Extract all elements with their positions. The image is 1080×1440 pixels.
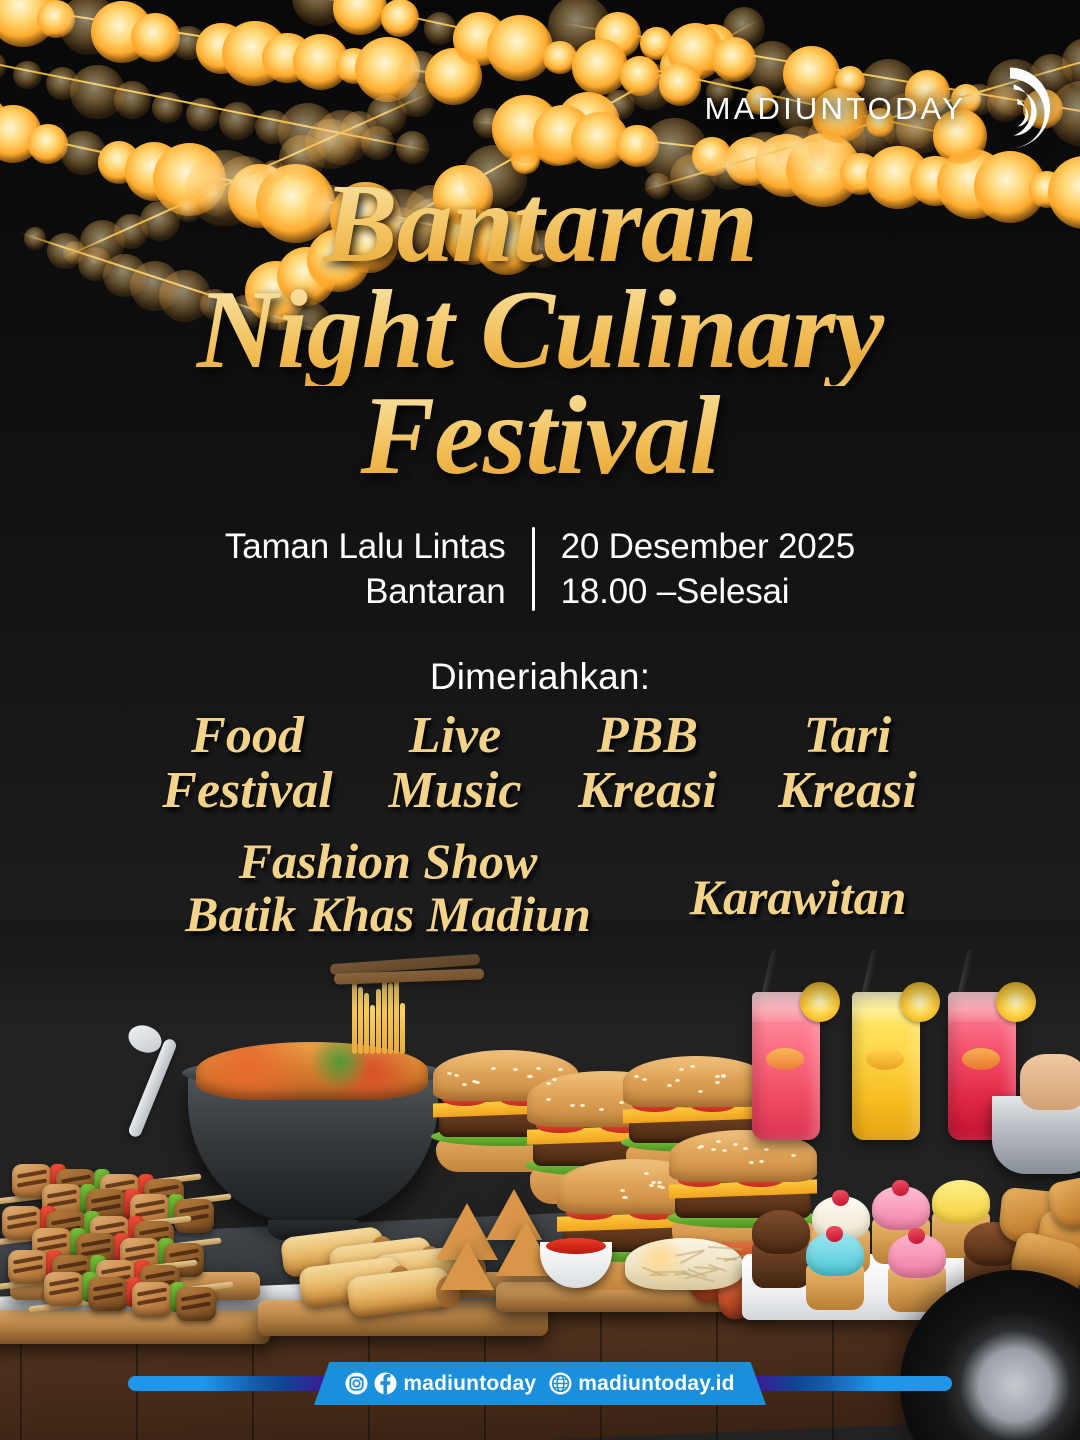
light-bulb (487, 15, 553, 81)
light-bulb (0, 52, 6, 80)
noodle-strand (394, 979, 399, 1054)
sesame-seed (651, 1181, 656, 1184)
sesame-seed (536, 1067, 541, 1070)
drink-straw (856, 948, 879, 1020)
sesame-seed (649, 1184, 654, 1187)
fruit-slice-in-glass (766, 1048, 804, 1070)
light-bulb (13, 61, 41, 89)
social-handle-group[interactable]: madiuntoday (345, 1372, 536, 1395)
sesame-seed (491, 1067, 496, 1070)
fashion-line-2: Batik Khas Madiun (158, 888, 618, 941)
sesame-seed (475, 1081, 480, 1084)
berry-garnish (892, 1180, 909, 1196)
event-time: 18.00 –Selesai (561, 570, 856, 615)
sesame-seed (749, 1161, 754, 1164)
light-bulb (381, 0, 419, 37)
lineup-item-food-festival: Food Festival (133, 708, 363, 818)
lineup-row-primary: Food Festival Live Music PBB Kreasi Tari… (0, 708, 1080, 818)
hand-reaching (1020, 1054, 1080, 1110)
serving-spoon (127, 1037, 178, 1138)
light-bulb (219, 102, 257, 140)
lineup-heading: Dimeriahkan: (0, 656, 1080, 698)
title-line-2: Night Culinary (0, 274, 1080, 386)
lineup-item-line-1: Tari (748, 708, 948, 763)
sesame-seed (462, 1083, 467, 1086)
venue-block: Taman Lalu Lintas Bantaran (225, 525, 532, 615)
website-text[interactable]: madiuntoday.id (578, 1373, 734, 1394)
light-bulb (424, 12, 456, 44)
sesame-seed (759, 1160, 764, 1163)
lineup-item-line-2: Kreasi (748, 763, 948, 818)
light-bulb (572, 39, 627, 94)
lineup-item-line-1: Live (363, 708, 548, 763)
event-date: 20 Desember 2025 (561, 525, 856, 570)
title-line-3: Festival (0, 380, 1080, 492)
datetime-block: 20 Desember 2025 18.00 –Selesai (535, 525, 856, 615)
berry-garnish (832, 1190, 849, 1206)
berry-garnish (908, 1228, 925, 1244)
instagram-icon[interactable] (345, 1372, 368, 1395)
facebook-icon[interactable] (374, 1372, 397, 1395)
light-bulb (186, 98, 218, 130)
noodle-strand (376, 989, 381, 1054)
lineup-item-line-2: Kreasi (548, 763, 748, 818)
crescent-swoosh-icon (964, 62, 1056, 154)
logo-wordmark: MADIUNTODAY (705, 93, 966, 124)
fruit-slice-in-glass (866, 1048, 904, 1070)
brand-logo: MADIUNTODAY (705, 62, 1056, 154)
noodle-strand (400, 1003, 405, 1054)
light-bulb (396, 131, 428, 163)
lineup-item-fashion-show: Fashion Show Batik Khas Madiun (158, 835, 618, 941)
noodle-strand (358, 987, 363, 1054)
noodle-strand (370, 1005, 375, 1054)
sesame-seed (558, 1068, 563, 1071)
venue-line-1: Taman Lalu Lintas (225, 525, 506, 570)
light-bulb (398, 82, 434, 118)
globe-icon[interactable] (549, 1372, 572, 1395)
sesame-seed (679, 1068, 684, 1071)
berry-garnish (826, 1226, 843, 1242)
sesame-seed (715, 1081, 720, 1084)
lemon-garnish (996, 982, 1036, 1022)
light-bulb (659, 63, 702, 106)
chopstick (334, 968, 484, 984)
sesame-seed (764, 1148, 769, 1151)
lineup-item-tari-kreasi: Tari Kreasi (748, 708, 948, 818)
sesame-seed (634, 1075, 639, 1078)
drink-straw (952, 948, 975, 1020)
sesame-seed (513, 1068, 518, 1071)
lineup-item-line-1: Food (133, 708, 363, 763)
sesame-seed (620, 1189, 625, 1192)
noodle-strand (364, 993, 369, 1054)
lineup-item-karawitan: Karawitan (648, 871, 948, 924)
noodle-strand (382, 977, 387, 1054)
light-bulb (152, 92, 183, 123)
poster-title: Bantaran Night Culinary Festival (0, 168, 1080, 492)
lemon-garnish (800, 982, 840, 1022)
sesame-seed (657, 1181, 662, 1184)
sesame-seed (570, 1104, 575, 1107)
sesame-seed (698, 1090, 703, 1093)
sesame-seed (580, 1104, 585, 1107)
sesame-seed (743, 1147, 748, 1150)
website-group[interactable]: madiuntoday.id (549, 1372, 734, 1395)
sesame-seed (699, 1145, 704, 1148)
sesame-seed (721, 1074, 726, 1077)
burger-bun-top (623, 1056, 769, 1108)
light-bulb (114, 81, 152, 119)
lineup-item-pbb-kreasi: PBB Kreasi (548, 708, 748, 818)
sesame-seed (733, 1143, 738, 1146)
venue-line-2: Bantaran (225, 570, 506, 615)
footer-bar: madiuntoday madiuntoday.id (0, 1362, 1080, 1406)
wooden-board (0, 1310, 270, 1344)
sesame-seed (657, 1185, 662, 1188)
chopstick (330, 954, 480, 975)
social-handle-text[interactable]: madiuntoday (403, 1373, 536, 1394)
lineup-item-live-music: Live Music (363, 708, 548, 818)
lineup-item-line-2: Music (363, 763, 548, 818)
cupcake-frosting (932, 1180, 990, 1224)
sesame-seed (599, 1108, 604, 1111)
sesame-seed (715, 1075, 720, 1078)
noodle-strand (352, 982, 357, 1054)
sesame-seed (722, 1149, 727, 1152)
poster-canvas: MADIUNTODAY Bantaran Night Culinary Fest… (0, 0, 1080, 1440)
sesame-seed (690, 1065, 695, 1068)
fruit-slice-in-glass (962, 1048, 1000, 1070)
footer-social-plate: madiuntoday madiuntoday.id (314, 1362, 766, 1405)
lemon-garnish (900, 982, 940, 1022)
coleslaw (625, 1238, 743, 1290)
sesame-seed (454, 1074, 459, 1077)
sesame-seed (447, 1072, 452, 1075)
sesame-seed (675, 1079, 680, 1082)
ketchup-sauce (546, 1238, 606, 1254)
lineup-item-line-2: Festival (133, 763, 363, 818)
sesame-seed (528, 1075, 533, 1078)
sesame-seed (546, 1082, 551, 1085)
sesame-seed (716, 1140, 721, 1143)
fashion-line-1: Fashion Show (158, 835, 618, 888)
sesame-seed (642, 1078, 647, 1081)
drink-straw (756, 948, 779, 1020)
sesame-seed (644, 1172, 649, 1175)
sesame-seed (546, 1098, 551, 1101)
cupcake-frosting (752, 1210, 810, 1254)
sesame-seed (552, 1078, 557, 1081)
light-bulb (333, 0, 386, 35)
sesame-seed (791, 1154, 796, 1157)
event-info: Taman Lalu Lintas Bantaran 20 Desember 2… (0, 525, 1080, 615)
sesame-seed (667, 1084, 672, 1087)
noodle-strand (388, 983, 393, 1054)
title-line-1: Bantaran (0, 168, 1080, 280)
sesame-seed (711, 1148, 716, 1151)
samosa (440, 1241, 494, 1290)
lineup-item-line-1: PBB (548, 708, 748, 763)
